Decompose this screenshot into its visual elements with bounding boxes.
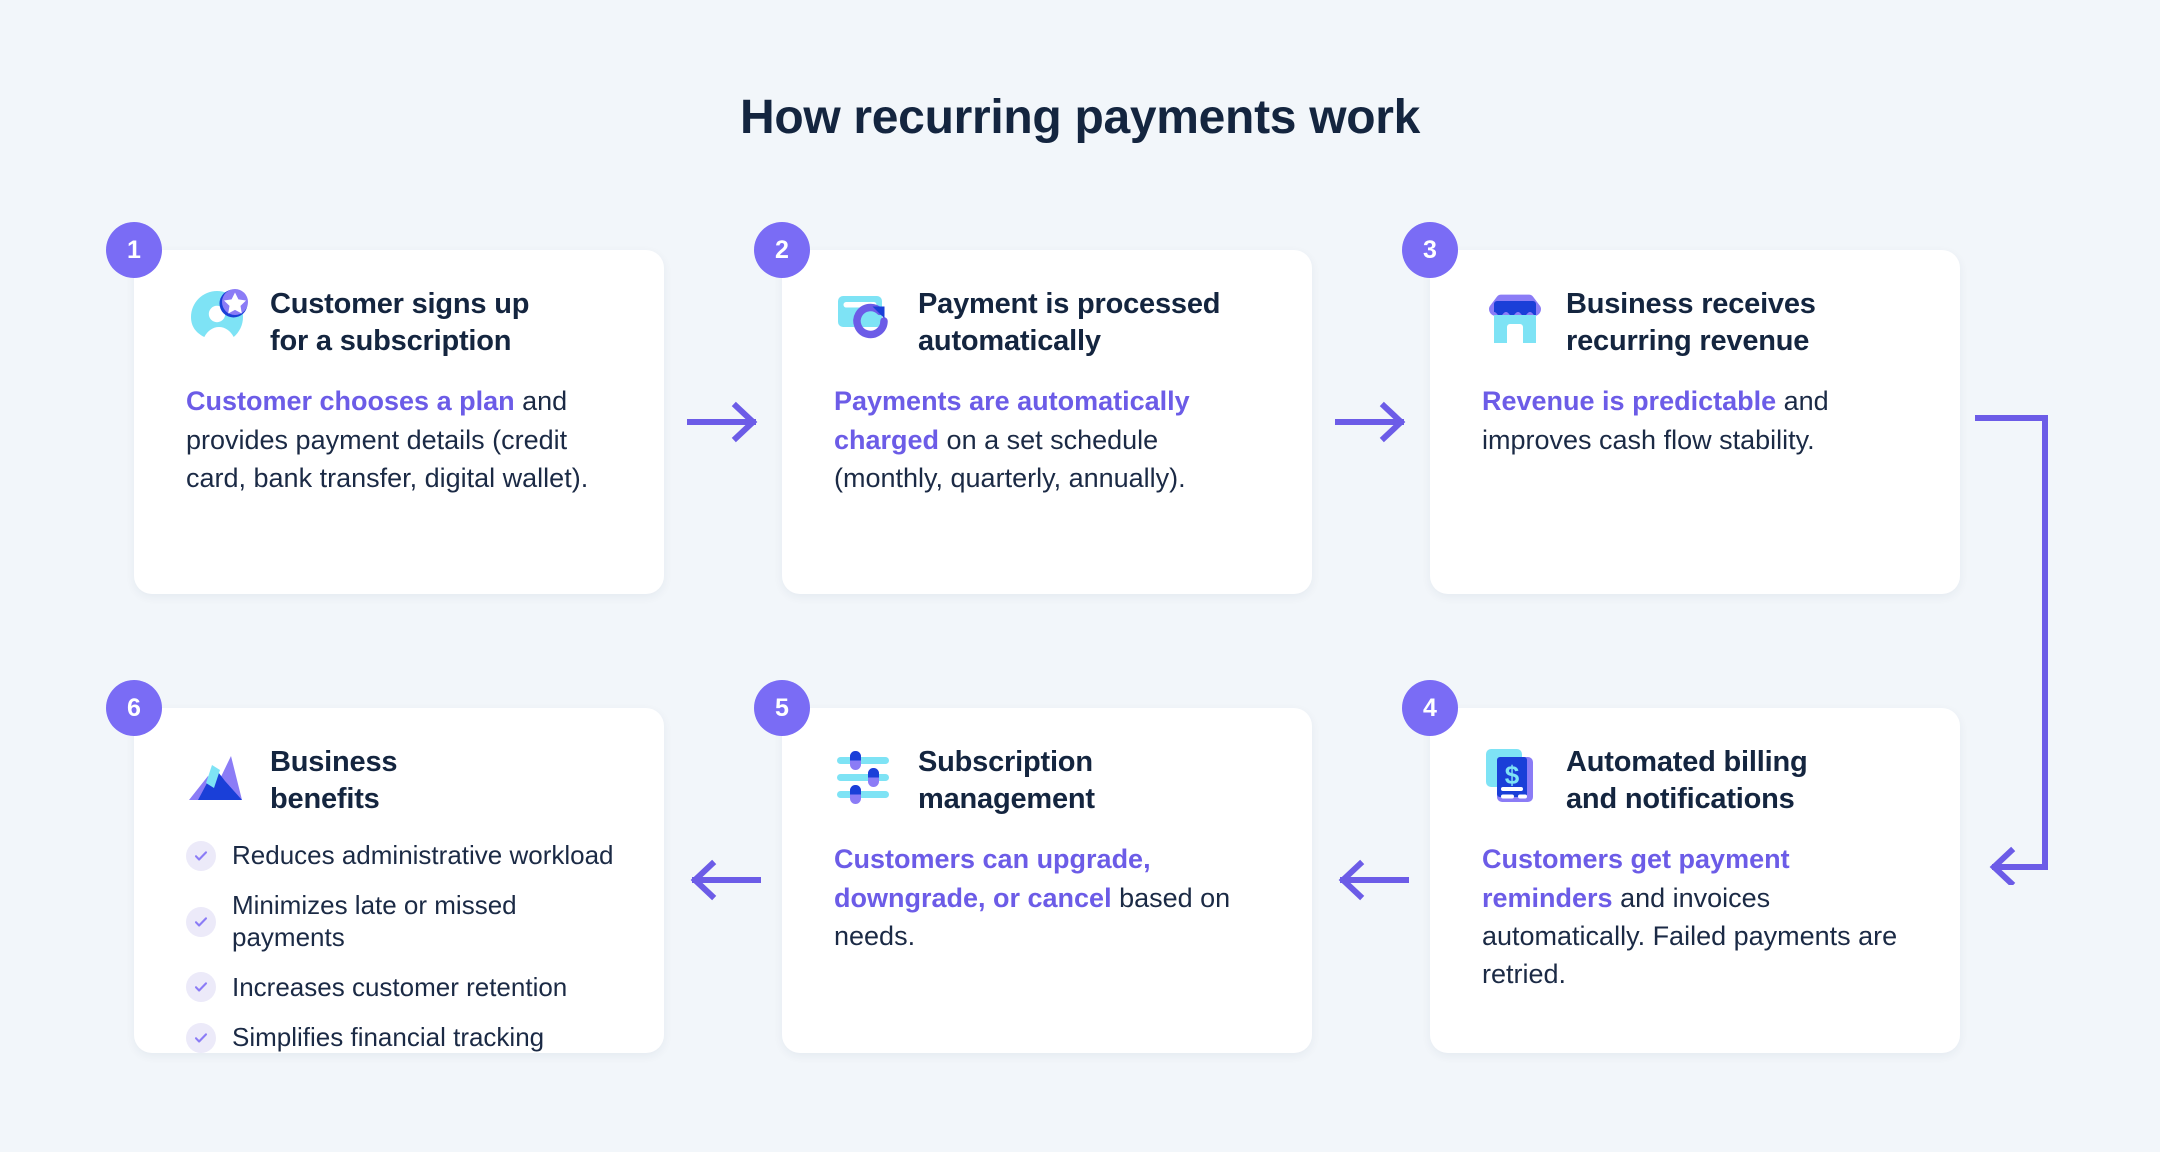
checklist-item-label: Minimizes late or missed payments	[232, 890, 624, 952]
step-number-badge-6: 6	[106, 680, 162, 736]
step-number-badge-3: 3	[1402, 222, 1458, 278]
infographic-page: How recurring payments work 1 Customer s…	[0, 0, 2160, 1152]
card-title-2: Payment is processed automatically	[918, 284, 1220, 360]
card-title-4: Automated billing and notifications	[1566, 742, 1807, 818]
card-header-4: $ Automated billing and notifications	[1430, 708, 1960, 818]
card-title-6-line2: benefits	[270, 783, 380, 815]
invoice-dollar-icon: $	[1482, 744, 1548, 810]
business-benefits-checklist: Reduces administrative workload Minimize…	[134, 818, 664, 1053]
step-card-4: 4 $ Automated billing and notifications …	[1430, 708, 1960, 1053]
check-icon	[186, 907, 216, 937]
card-title-5-line1: Subscription	[918, 746, 1093, 778]
customer-avatar-star-icon	[186, 286, 252, 352]
card-title-3-line1: Business receives	[1566, 288, 1816, 320]
card-title-6: Business benefits	[270, 742, 397, 818]
card-title-2-line1: Payment is processed	[918, 288, 1220, 320]
card-title-1: Customer signs up for a subscription	[270, 284, 529, 360]
card-body-5-highlight: Customers can upgrade, downgrade, or can…	[834, 844, 1151, 912]
arrow-step2-to-step3-icon	[1335, 397, 1409, 447]
step-number-badge-2: 2	[754, 222, 810, 278]
card-header-3: Business receives recurring revenue	[1430, 250, 1960, 360]
card-body-3-highlight: Revenue is predictable	[1482, 386, 1776, 416]
card-title-1-line1: Customer signs up	[270, 288, 529, 320]
step-card-5: 5 Subscription management	[782, 708, 1312, 1053]
step-number-badge-1: 1	[106, 222, 162, 278]
card-body-1-highlight: Customer chooses a plan	[186, 386, 515, 416]
checklist-item: Minimizes late or missed payments	[186, 890, 624, 952]
card-body-5: Customers can upgrade, downgrade, or can…	[782, 818, 1312, 955]
storefront-icon	[1482, 286, 1548, 352]
card-title-4-line1: Automated billing	[1566, 746, 1807, 778]
card-title-5-line2: management	[918, 783, 1095, 815]
checklist-item-label: Increases customer retention	[232, 972, 567, 1003]
card-body-4: Customers get payment reminders and invo…	[1430, 818, 1960, 993]
svg-text:$: $	[1505, 760, 1520, 790]
check-icon	[186, 841, 216, 871]
card-title-6-line1: Business	[270, 746, 397, 778]
page-title: How recurring payments work	[0, 90, 2160, 145]
card-title-4-line2: and notifications	[1566, 783, 1795, 815]
step-number-badge-5: 5	[754, 680, 810, 736]
recurring-card-icon	[834, 286, 900, 352]
checklist-item-label: Simplifies financial tracking	[232, 1022, 544, 1053]
card-body-2: Payments are automatically charged on a …	[782, 360, 1312, 497]
card-header-6: Business benefits	[134, 708, 664, 818]
checklist-item: Increases customer retention	[186, 972, 624, 1003]
checklist-item: Reduces administrative workload	[186, 840, 624, 871]
check-icon	[186, 1023, 216, 1053]
area-chart-icon	[186, 744, 252, 810]
card-header-1: Customer signs up for a subscription	[134, 250, 664, 360]
checklist-item-label: Reduces administrative workload	[232, 840, 614, 871]
step-card-6: 6 Business benefits Reduces administrati…	[134, 708, 664, 1053]
step-card-2: 2 Payment is processed automatically Pay…	[782, 250, 1312, 594]
card-title-3: Business receives recurring revenue	[1566, 284, 1816, 360]
checklist-item: Simplifies financial tracking	[186, 1022, 624, 1053]
step-card-3: 3 Business receives recurring revenue Re…	[1430, 250, 1960, 594]
card-title-5: Subscription management	[918, 742, 1095, 818]
check-icon	[186, 972, 216, 1002]
card-body-1: Customer chooses a plan and provides pay…	[134, 360, 664, 497]
card-header-5: Subscription management	[782, 708, 1312, 818]
card-title-2-line2: automatically	[918, 325, 1101, 357]
card-header-2: Payment is processed automatically	[782, 250, 1312, 360]
arrow-step4-to-step5-icon	[1335, 855, 1409, 905]
connector-step3-to-step4-icon	[1975, 400, 2105, 885]
card-title-1-line2: for a subscription	[270, 325, 511, 357]
arrow-step5-to-step6-icon	[687, 855, 761, 905]
card-body-3: Revenue is predictable and improves cash…	[1430, 360, 1960, 459]
arrow-step1-to-step2-icon	[687, 397, 761, 447]
sliders-icon	[834, 744, 900, 810]
step-number-badge-4: 4	[1402, 680, 1458, 736]
card-title-3-line2: recurring revenue	[1566, 325, 1809, 357]
step-card-1: 1 Customer signs up for a subscription C…	[134, 250, 664, 594]
